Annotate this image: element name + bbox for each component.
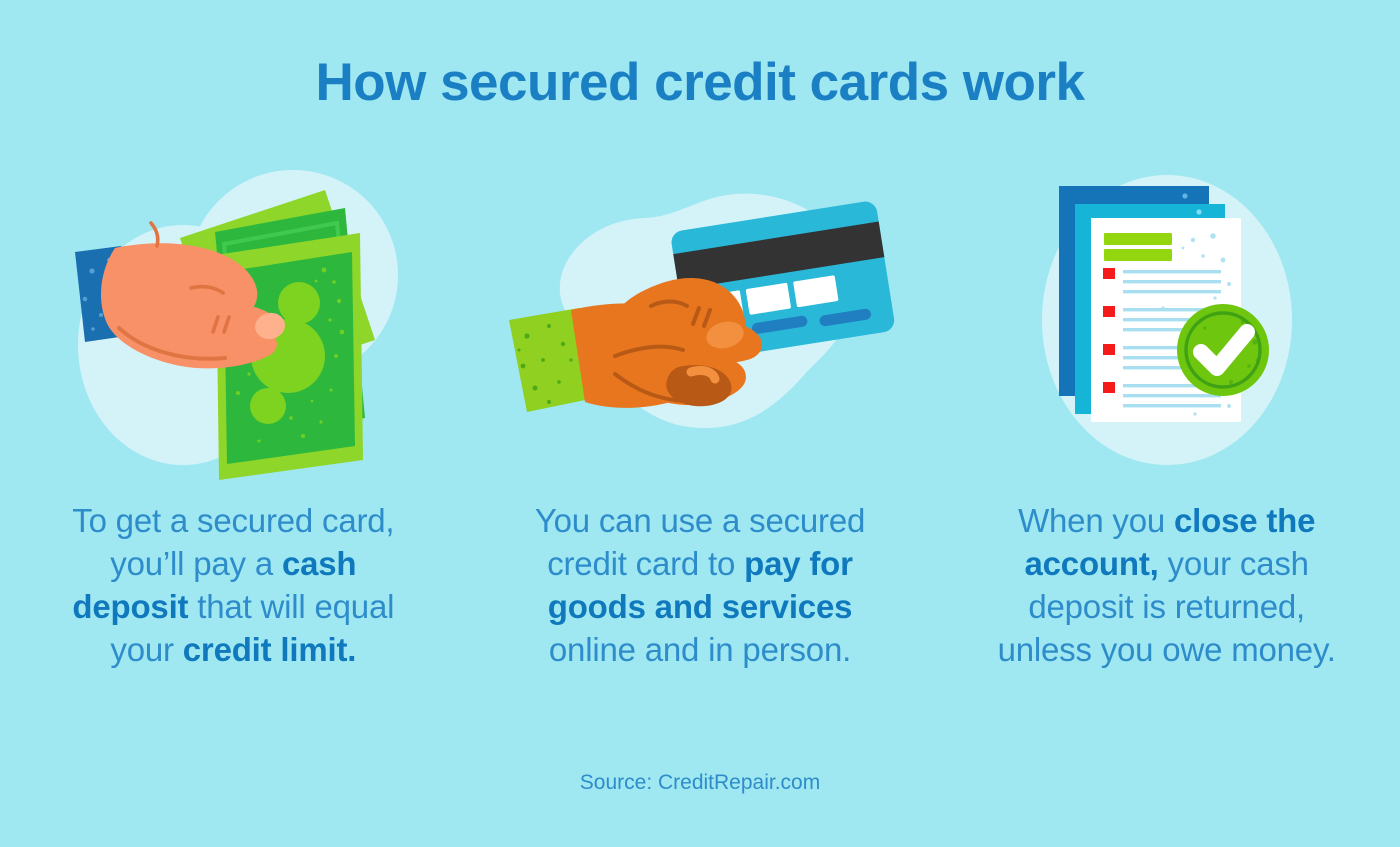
cash-illustration-svg xyxy=(63,160,403,490)
column-pay-goods-services: You can use a secured credit card to pay… xyxy=(467,160,934,720)
document-title-bar-1 xyxy=(1104,233,1172,245)
caption-segment: online and in person. xyxy=(549,631,851,668)
documents-illustration-svg xyxy=(1017,160,1317,490)
checklist-line xyxy=(1123,290,1221,293)
hand-holding-cash-illustration xyxy=(0,160,467,500)
credit-card-illustration-svg xyxy=(505,160,895,490)
columns-container: To get a secured card, you’ll pay a cash… xyxy=(0,160,1400,720)
checklist-line xyxy=(1123,404,1221,407)
hand-holding-credit-card-illustration xyxy=(467,160,934,500)
checklist-line xyxy=(1123,394,1221,397)
document-back-speck xyxy=(1182,193,1187,198)
caption-bold-segment: credit limit. xyxy=(183,631,356,668)
documents-with-checkmark-illustration xyxy=(933,160,1400,500)
checkmark-badge xyxy=(1177,304,1269,396)
caption-cash-deposit: To get a secured card, you’ll pay a cash… xyxy=(53,500,413,672)
document-title-bar-2 xyxy=(1104,249,1172,261)
checklist-marker xyxy=(1103,382,1115,393)
arm-and-sleeve xyxy=(509,278,762,412)
caption-pay-goods-services: You can use a secured credit card to pay… xyxy=(520,500,880,672)
checklist-line xyxy=(1123,270,1221,273)
caption-close-account: When you close the account, your cash de… xyxy=(987,500,1347,672)
source-attribution: Source: CreditRepair.com xyxy=(0,771,1400,795)
column-cash-deposit: To get a secured card, you’ll pay a cash… xyxy=(0,160,467,720)
caption-segment: When you xyxy=(1018,502,1174,539)
page-title: How secured credit cards work xyxy=(0,52,1400,113)
banknote-seal-bottom xyxy=(250,388,286,424)
infographic-canvas: How secured credit cards work xyxy=(0,0,1400,847)
checklist-marker xyxy=(1103,268,1115,279)
checklist-line xyxy=(1123,280,1221,283)
column-close-account: When you close the account, your cash de… xyxy=(933,160,1400,720)
checklist-marker xyxy=(1103,306,1115,317)
checklist-marker xyxy=(1103,344,1115,355)
document-middle-speck xyxy=(1196,209,1201,214)
banknote-seal-top xyxy=(278,282,320,324)
